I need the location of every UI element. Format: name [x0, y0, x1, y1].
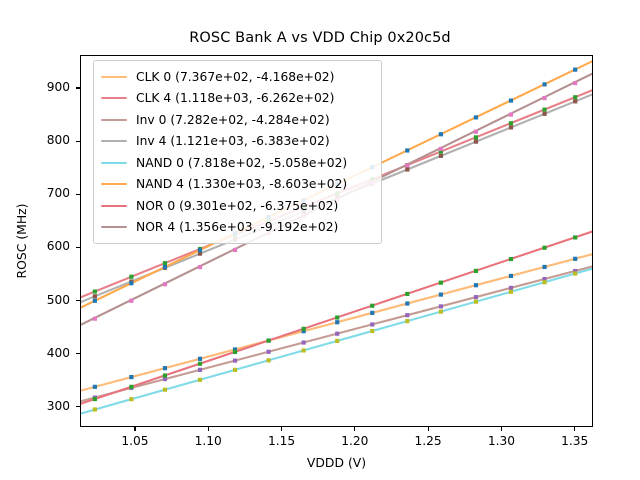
data-point	[93, 397, 97, 401]
data-point	[573, 271, 577, 275]
x-tick-mark	[501, 427, 502, 431]
data-point	[129, 281, 133, 285]
legend-item[interactable]: CLK 4 (1.118e+03, -6.262e+02)	[101, 88, 374, 110]
data-point	[93, 299, 97, 303]
data-point	[439, 310, 443, 314]
legend-color-swatch	[101, 119, 127, 121]
data-point	[542, 82, 546, 86]
data-point	[509, 98, 513, 102]
legend-label: Inv 0 (7.282e+02, -4.284e+02)	[136, 114, 330, 126]
legend-item[interactable]: NAND 4 (1.330e+03, -8.603e+02)	[101, 174, 374, 196]
data-point	[370, 311, 374, 315]
legend-item[interactable]: NOR 4 (1.356e+03, -9.192e+02)	[101, 217, 374, 239]
data-point	[129, 397, 133, 401]
data-point	[370, 329, 374, 333]
y-tick-label: 600	[30, 239, 70, 253]
data-point	[233, 350, 237, 354]
legend-item[interactable]: Inv 0 (7.282e+02, -4.284e+02)	[101, 109, 374, 131]
x-tick-mark	[354, 427, 355, 431]
data-point	[439, 304, 443, 308]
series-nand-0	[81, 269, 592, 414]
y-tick-mark	[76, 87, 80, 88]
data-point	[542, 246, 546, 250]
data-point	[474, 140, 478, 144]
data-point	[163, 265, 167, 269]
data-point	[474, 130, 478, 134]
data-point	[573, 81, 577, 85]
data-point	[474, 295, 478, 299]
x-tick-mark	[134, 427, 135, 431]
x-tick-label: 1.20	[341, 434, 368, 448]
data-point	[198, 368, 202, 372]
legend-label: NOR 4 (1.356e+03, -9.192e+02)	[136, 221, 338, 233]
series-clk-0	[81, 254, 592, 390]
legend-color-swatch	[101, 97, 127, 99]
data-point	[439, 281, 443, 285]
data-point	[335, 320, 339, 324]
legend-label: NAND 4 (1.330e+03, -8.603e+02)	[136, 178, 347, 190]
data-point	[335, 315, 339, 319]
data-point	[542, 112, 546, 116]
legend-color-swatch	[101, 162, 127, 164]
legend-color-swatch	[101, 205, 127, 207]
legend-color-swatch	[101, 140, 127, 142]
data-point	[198, 265, 202, 269]
data-point	[509, 257, 513, 261]
legend-item[interactable]: NOR 0 (9.301e+02, -6.375e+02)	[101, 195, 374, 217]
data-point	[509, 290, 513, 294]
legend-label: NAND 0 (7.818e+02, -5.058e+02)	[136, 157, 347, 169]
y-tick-label: 900	[30, 80, 70, 94]
data-point	[93, 294, 97, 298]
data-point	[405, 292, 409, 296]
data-point	[233, 248, 237, 252]
data-point	[405, 313, 409, 317]
data-point	[509, 274, 513, 278]
data-point	[129, 299, 133, 303]
data-point	[370, 304, 374, 308]
y-tick-label: 400	[30, 346, 70, 360]
y-tick-mark	[76, 300, 80, 301]
legend-item[interactable]: NAND 0 (7.818e+02, -5.058e+02)	[101, 152, 374, 174]
chart-title: ROSC Bank A vs VDD Chip 0x20c5d	[0, 30, 640, 46]
x-tick-mark	[281, 427, 282, 431]
data-point	[405, 319, 409, 323]
y-tick-mark	[76, 247, 80, 248]
data-point	[573, 99, 577, 103]
data-point	[198, 378, 202, 382]
data-point	[542, 265, 546, 269]
data-point	[233, 368, 237, 372]
data-point	[335, 339, 339, 343]
data-point	[573, 95, 577, 99]
data-point	[542, 280, 546, 284]
legend-color-swatch	[101, 76, 127, 78]
series-nor-0	[81, 232, 592, 404]
chart-figure: ROSC Bank A vs VDD Chip 0x20c5d ROSC (MH…	[0, 0, 640, 480]
x-tick-label: 1.15	[268, 434, 295, 448]
data-point	[163, 388, 167, 392]
data-point	[93, 317, 97, 321]
legend-color-swatch	[101, 226, 127, 228]
data-point	[267, 339, 271, 343]
data-point	[474, 269, 478, 273]
data-point	[509, 125, 513, 129]
data-point	[163, 261, 167, 265]
x-tick-mark	[428, 427, 429, 431]
data-point	[509, 286, 513, 290]
legend-label: Inv 4 (1.121e+03, -6.383e+02)	[136, 135, 330, 147]
y-tick-label: 300	[30, 399, 70, 413]
legend-label: NOR 0 (9.301e+02, -6.375e+02)	[136, 200, 338, 212]
data-point	[302, 348, 306, 352]
data-point	[163, 366, 167, 370]
data-point	[405, 163, 409, 167]
data-point	[439, 154, 443, 158]
data-point	[198, 357, 202, 361]
data-point	[405, 167, 409, 171]
data-point	[163, 282, 167, 286]
data-point	[129, 385, 133, 389]
data-point	[267, 350, 271, 354]
legend-color-swatch	[101, 183, 127, 185]
x-tick-label: 1.05	[121, 434, 148, 448]
data-point	[439, 293, 443, 297]
data-point	[509, 121, 513, 125]
chart-legend: CLK 0 (7.367e+02, -4.168e+02)CLK 4 (1.11…	[93, 60, 382, 244]
data-point	[93, 289, 97, 293]
data-point	[439, 147, 443, 151]
data-point	[93, 385, 97, 389]
data-point	[439, 132, 443, 136]
legend-label: CLK 0 (7.367e+02, -4.168e+02)	[136, 71, 334, 83]
data-point	[198, 362, 202, 366]
data-point	[573, 257, 577, 261]
y-tick-mark	[76, 141, 80, 142]
x-tick-mark	[574, 427, 575, 431]
data-point	[573, 68, 577, 72]
data-point	[474, 115, 478, 119]
x-tick-label: 1.30	[488, 434, 515, 448]
data-point	[370, 322, 374, 326]
y-tick-mark	[76, 194, 80, 195]
x-axis-label: VDDD (V)	[80, 455, 593, 470]
data-point	[542, 108, 546, 112]
data-point	[302, 340, 306, 344]
data-point	[233, 359, 237, 363]
legend-label: CLK 4 (1.118e+03, -6.262e+02)	[136, 92, 334, 104]
data-point	[405, 301, 409, 305]
y-tick-mark	[76, 353, 80, 354]
y-tick-label: 800	[30, 133, 70, 147]
data-point	[474, 283, 478, 287]
data-point	[405, 148, 409, 152]
y-tick-label: 700	[30, 186, 70, 200]
data-point	[573, 235, 577, 239]
data-point	[198, 248, 202, 252]
data-point	[163, 373, 167, 377]
x-tick-label: 1.25	[415, 434, 442, 448]
y-tick-label: 500	[30, 293, 70, 307]
data-point	[474, 300, 478, 304]
data-point	[335, 332, 339, 336]
data-point	[267, 358, 271, 362]
x-tick-mark	[208, 427, 209, 431]
data-point	[129, 375, 133, 379]
legend-item[interactable]: CLK 0 (7.367e+02, -4.168e+02)	[101, 66, 374, 88]
data-point	[302, 327, 306, 331]
data-point	[129, 275, 133, 279]
data-point	[93, 407, 97, 411]
y-tick-mark	[76, 406, 80, 407]
legend-item[interactable]: Inv 4 (1.121e+03, -6.383e+02)	[101, 131, 374, 153]
data-point	[474, 135, 478, 139]
x-tick-label: 1.35	[561, 434, 588, 448]
data-point	[542, 96, 546, 100]
x-tick-label: 1.10	[195, 434, 222, 448]
data-point	[509, 112, 513, 116]
